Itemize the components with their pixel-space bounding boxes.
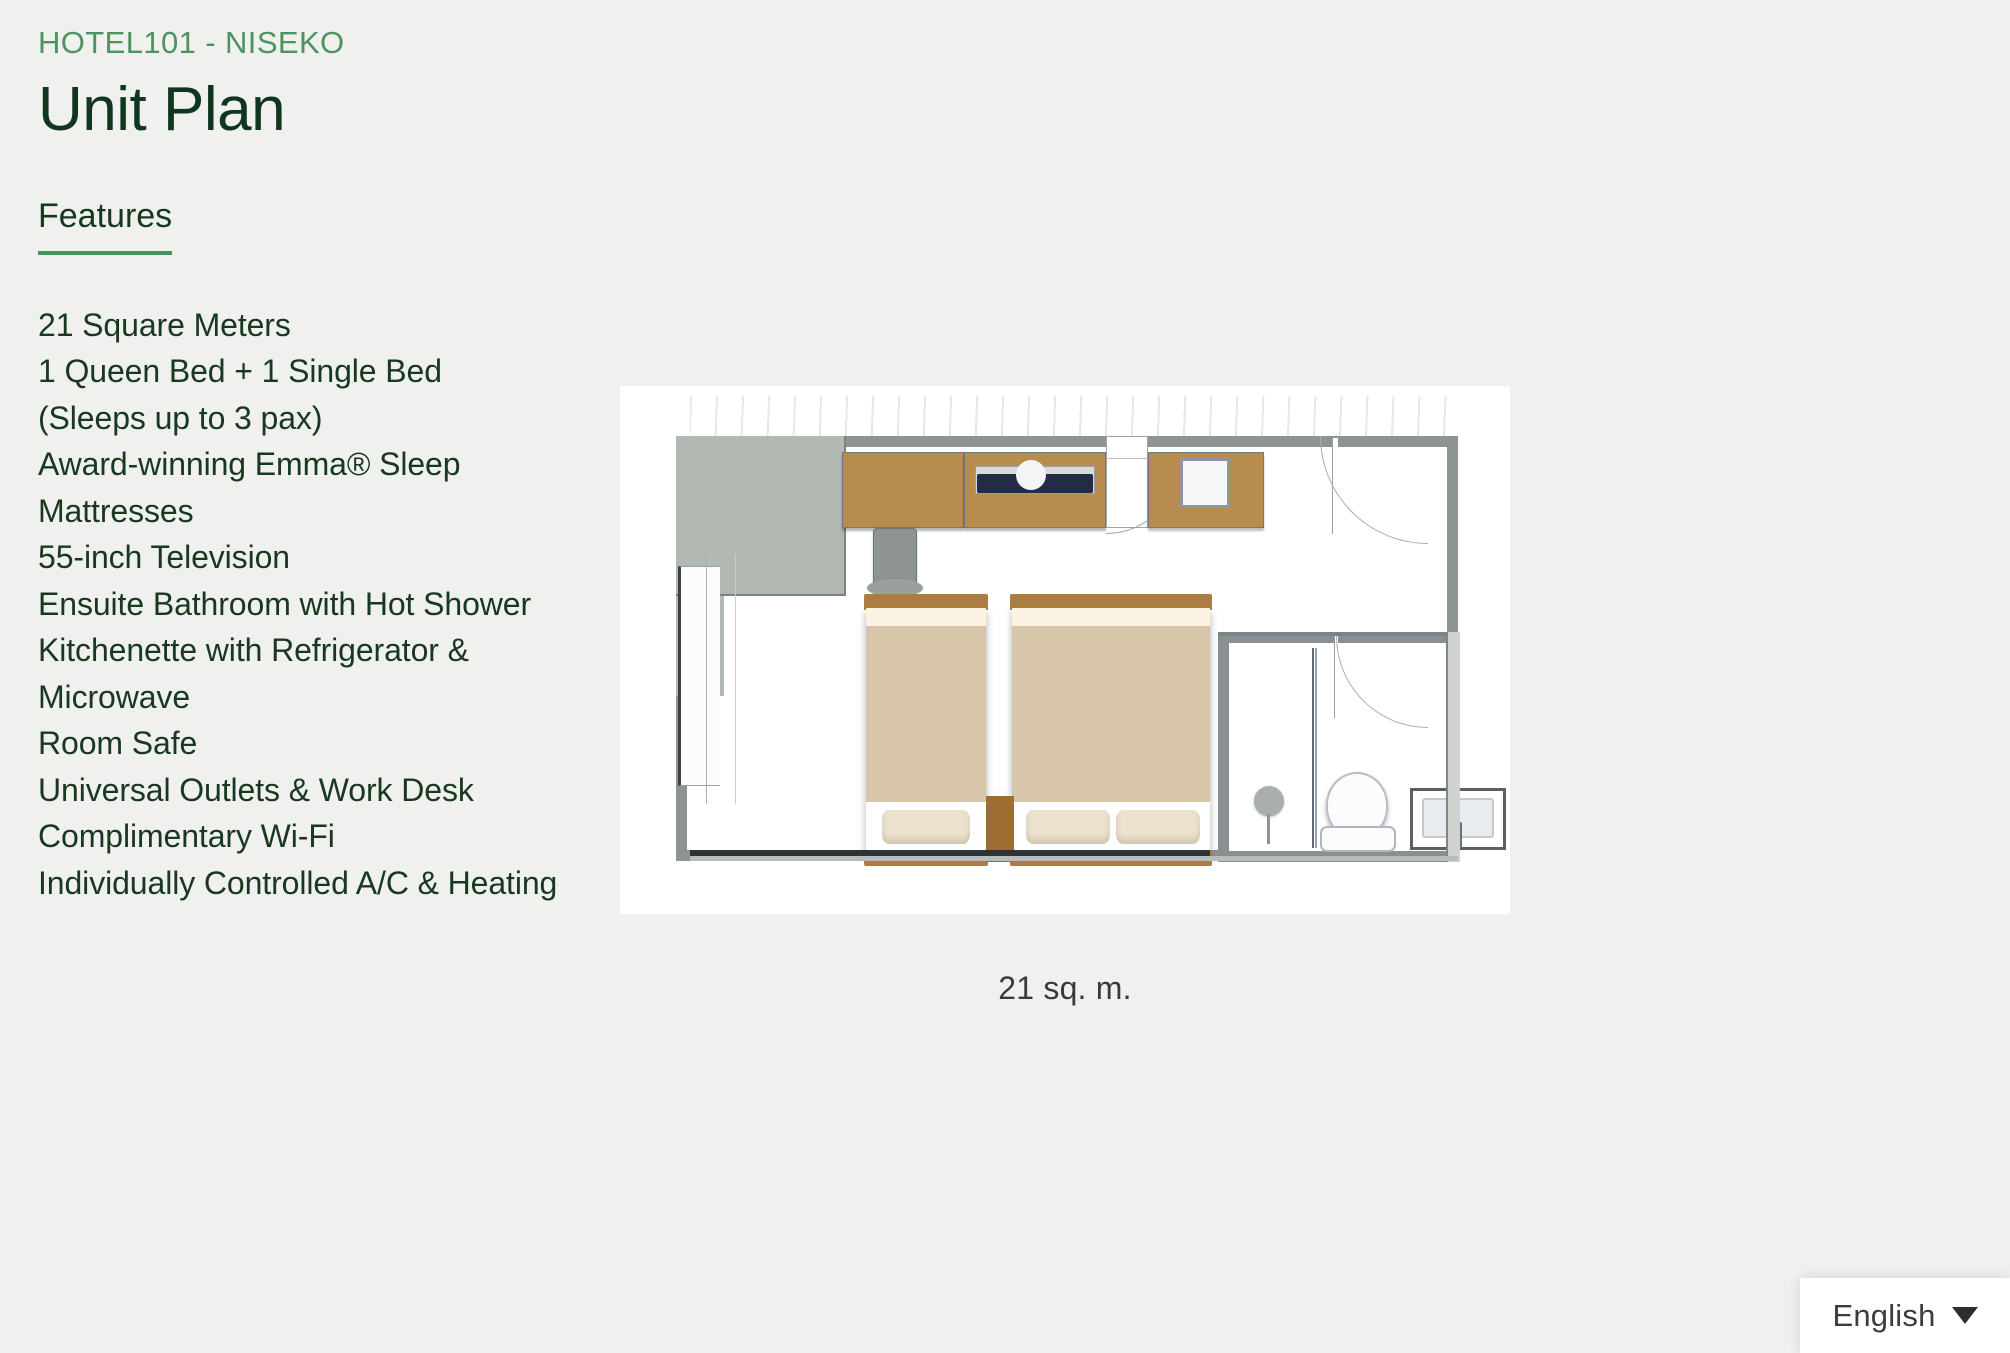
- features-list: 21 Square Meters 1 Queen Bed + 1 Single …: [38, 302, 698, 907]
- feature-item: (Sleeps up to 3 pax): [38, 395, 578, 442]
- feature-item: Individually Controlled A/C & Heating: [38, 860, 578, 907]
- sketch-strokes: [690, 396, 1450, 436]
- shower-partition: [1312, 648, 1317, 848]
- pillow: [1026, 810, 1110, 844]
- feature-item: Universal Outlets & Work Desk: [38, 767, 578, 814]
- floor-plan-caption: 21 sq. m.: [620, 970, 1510, 1007]
- kitchen-counter: [842, 452, 964, 528]
- features-heading: Features: [38, 196, 172, 255]
- features-section: Features 21 Square Meters 1 Queen Bed + …: [38, 196, 698, 906]
- feature-item: Complimentary Wi-Fi: [38, 813, 578, 860]
- language-selector-label: English: [1832, 1298, 1935, 1334]
- toilet-tank: [1320, 826, 1396, 852]
- floor-plan-column: 21 sq. m.: [620, 386, 1510, 1007]
- shower-stem: [1267, 814, 1270, 844]
- pillow: [882, 810, 970, 844]
- feature-item: Kitchenette with Refrigerator & Microwav…: [38, 627, 578, 720]
- chair: [873, 528, 917, 586]
- unit-plan-page: HOTEL101 - NISEKO Unit Plan Features 21 …: [0, 0, 2010, 1353]
- chevron-down-icon: [1952, 1307, 1978, 1324]
- feature-item: Award-winning Emma® Sleep Mattresses: [38, 441, 578, 534]
- room-safe: [1180, 458, 1230, 508]
- shower-head-icon: [1254, 786, 1284, 816]
- language-selector[interactable]: English: [1800, 1278, 2010, 1353]
- queen-bed-sheet: [1012, 608, 1210, 626]
- pillow: [1116, 810, 1200, 844]
- feature-item: 1 Queen Bed + 1 Single Bed: [38, 348, 578, 395]
- feature-item: Ensuite Bathroom with Hot Shower: [38, 581, 578, 628]
- feature-item: Room Safe: [38, 720, 578, 767]
- feature-item: 55-inch Television: [38, 534, 578, 581]
- page-title: Unit Plan: [38, 75, 698, 144]
- single-bed: [866, 608, 986, 852]
- kitchen-faucet-icon: [1016, 460, 1046, 490]
- right-partition-wall: [1446, 632, 1460, 862]
- single-bed-sheet: [866, 608, 986, 626]
- bottom-wall: [690, 856, 1458, 861]
- floor-plan-image: [620, 386, 1510, 914]
- feature-item: 21 Square Meters: [38, 302, 578, 349]
- queen-bed: [1012, 608, 1210, 852]
- property-name: HOTEL101 - NISEKO: [38, 24, 698, 63]
- details-column: HOTEL101 - NISEKO Unit Plan Features 21 …: [38, 24, 698, 906]
- entry-door-panel: [706, 554, 736, 804]
